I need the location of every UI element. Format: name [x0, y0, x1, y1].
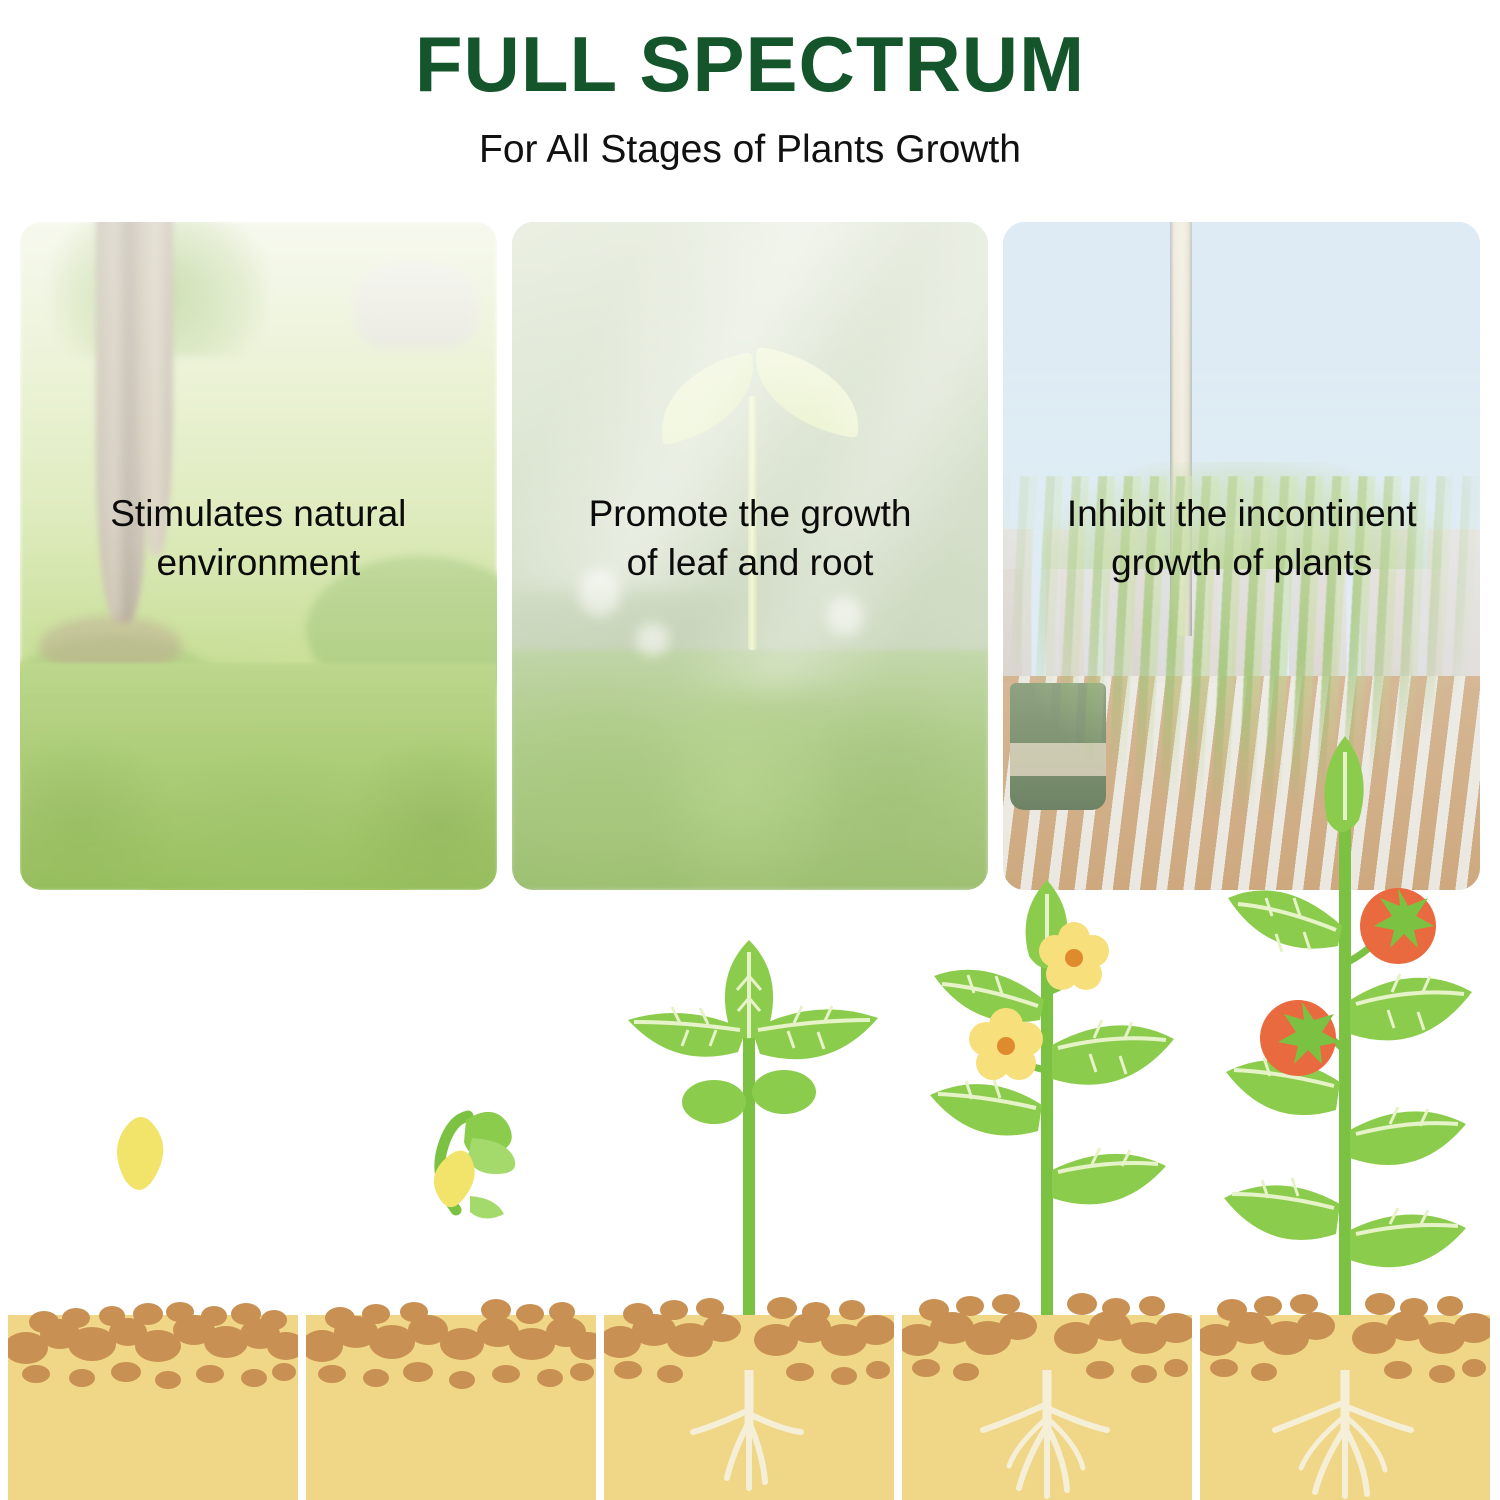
growth-stage-flowering — [902, 880, 1192, 1500]
seed-illustration — [8, 880, 298, 1350]
soil-block — [902, 1282, 1192, 1500]
growth-stage-seedling — [604, 880, 894, 1500]
fruiting-plant-illustration — [1200, 730, 1490, 1350]
seedling-illustration — [604, 880, 894, 1350]
growth-stage-germination — [306, 880, 596, 1500]
panel-caption: Promote the growth of leaf and root — [512, 490, 989, 588]
flowering-plant-illustration — [902, 880, 1192, 1350]
soil-block — [8, 1282, 298, 1500]
fruit — [1260, 1000, 1340, 1076]
germinating-seed-illustration — [306, 880, 596, 1350]
growth-stage-row — [0, 880, 1500, 1500]
feature-panel-leaf-and-root: Promote the growth of leaf and root — [512, 222, 989, 890]
growth-stage-fruiting — [1200, 880, 1490, 1500]
panel-caption: Stimulates natural environment — [20, 490, 497, 588]
header: FULL SPECTRUM For All Stages of Plants G… — [0, 0, 1500, 172]
infographic-page: FULL SPECTRUM For All Stages of Plants G… — [0, 0, 1500, 1500]
soil-block — [306, 1282, 596, 1500]
growth-stage-seed — [8, 880, 298, 1500]
feature-panel-natural-environment: Stimulates natural environment — [20, 222, 497, 890]
soil-block — [604, 1282, 894, 1500]
page-title: FULL SPECTRUM — [0, 24, 1500, 106]
fruit — [1360, 888, 1436, 964]
panel-caption: Inhibit the incontinent growth of plants — [1003, 490, 1480, 588]
soil-block — [1200, 1282, 1490, 1500]
page-subtitle: For All Stages of Plants Growth — [0, 128, 1500, 172]
